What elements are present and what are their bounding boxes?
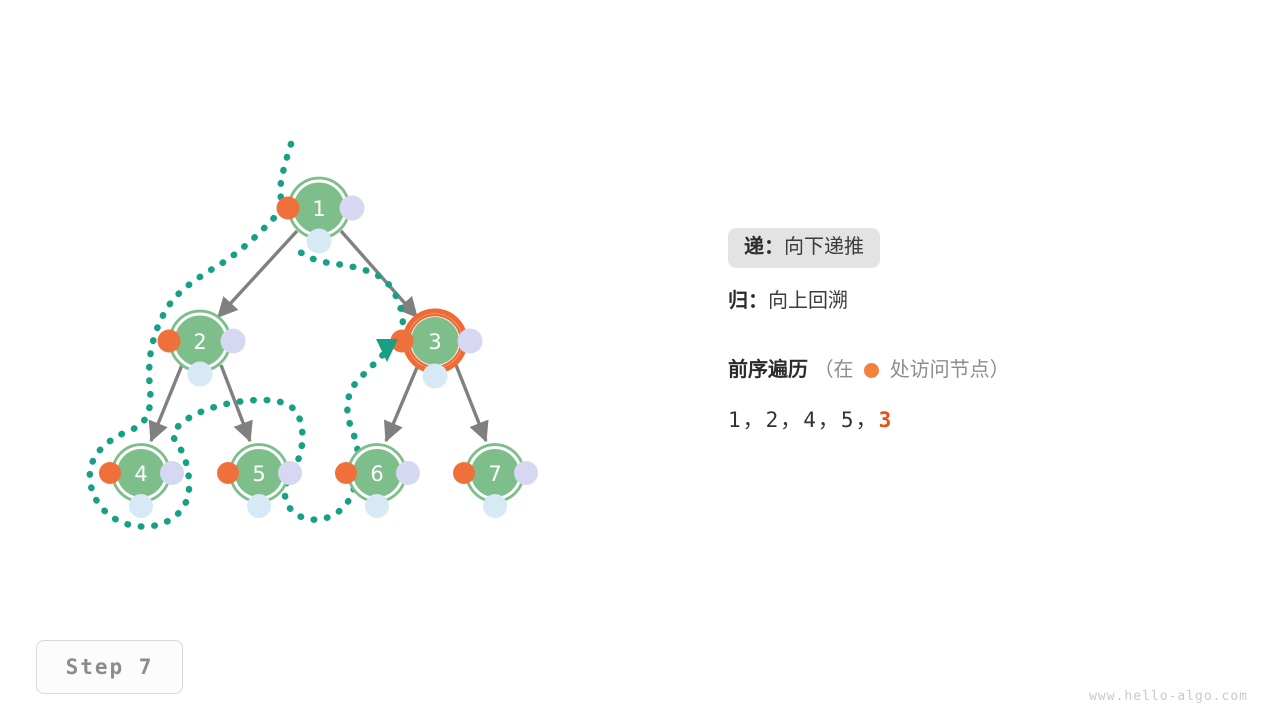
legend-return-keyword: 归： <box>728 290 768 312</box>
node-5-label: 5 <box>252 462 265 486</box>
node-1-right-dot <box>340 196 365 221</box>
traversal-panel: 前序遍历 （在 处访问节点） 1，2，4，5，3 <box>728 360 1248 434</box>
node-7-visit-dot <box>453 462 475 484</box>
tree-node-4[interactable]: 4 <box>99 444 184 518</box>
node-4-label: 4 <box>134 462 147 486</box>
node-7-label: 7 <box>488 462 501 486</box>
node-4-right-dot <box>160 461 184 485</box>
node-1-visit-dot <box>277 197 300 220</box>
legend-row-return: 归：向上回溯 <box>728 282 1248 322</box>
current-node-pointer-icon <box>376 339 398 362</box>
step-badge: Step 7 <box>36 640 183 694</box>
legend-recurse-keyword: 递： <box>744 236 784 258</box>
edge-3-7 <box>456 365 486 441</box>
traversal-title: 前序遍历 <box>728 359 808 381</box>
tree-node-7[interactable]: 7 <box>453 444 538 518</box>
watermark-text: www.hello-algo.com <box>1089 689 1248 704</box>
traversal-title-row: 前序遍历 （在 处访问节点） <box>728 360 1248 380</box>
legend-row-recurse: 递：向下递推 <box>728 228 1248 268</box>
node-7-bottom-dot <box>483 494 507 518</box>
node-3-label: 3 <box>428 330 441 354</box>
edge-1-2 <box>218 231 297 317</box>
node-5-right-dot <box>278 461 302 485</box>
node-6-bottom-dot <box>365 494 389 518</box>
node-1-bottom-dot <box>307 229 332 254</box>
node-4-visit-dot <box>99 462 121 484</box>
traversal-sequence-current: 3 <box>879 408 894 432</box>
tree-node-6[interactable]: 6 <box>335 444 420 518</box>
node-6-label: 6 <box>370 462 383 486</box>
node-2-bottom-dot <box>188 362 213 387</box>
edge-2-4 <box>151 365 182 441</box>
node-2-right-dot <box>221 329 246 354</box>
visit-dot-icon <box>864 363 879 378</box>
legend-recurse-chip: 递：向下递推 <box>728 228 880 268</box>
node-5-bottom-dot <box>247 494 271 518</box>
legend-return-chip: 归：向上回溯 <box>728 282 864 322</box>
node-2-label: 2 <box>193 330 206 354</box>
diagram-canvas: 1 2 3 <box>0 0 1280 720</box>
node-5-visit-dot <box>217 462 239 484</box>
watermark: www.hello-algo.com <box>1089 689 1248 704</box>
legend-recurse-text: 向下递推 <box>784 236 864 258</box>
legend-return-text: 向上回溯 <box>768 290 848 312</box>
node-1-label: 1 <box>312 197 325 221</box>
traversal-sequence: 1，2，4，5，3 <box>728 404 1248 434</box>
legend-panel: 递：向下递推 归：向上回溯 <box>728 228 1248 336</box>
traversal-sequence-prefix: 1，2，4，5， <box>728 408 879 432</box>
node-3-right-dot <box>458 329 483 354</box>
edge-3-6 <box>386 365 418 441</box>
tree-node-2[interactable]: 2 <box>158 311 246 387</box>
step-badge-label: Step 7 <box>66 655 154 679</box>
traversal-note-open: （在 <box>814 359 854 381</box>
traversal-note-close: 处访问节点） <box>890 359 1010 381</box>
node-2-visit-dot <box>158 330 181 353</box>
node-7-right-dot <box>514 461 538 485</box>
node-3-bottom-dot <box>423 364 448 389</box>
node-6-right-dot <box>396 461 420 485</box>
node-4-bottom-dot <box>129 494 153 518</box>
node-6-visit-dot <box>335 462 357 484</box>
